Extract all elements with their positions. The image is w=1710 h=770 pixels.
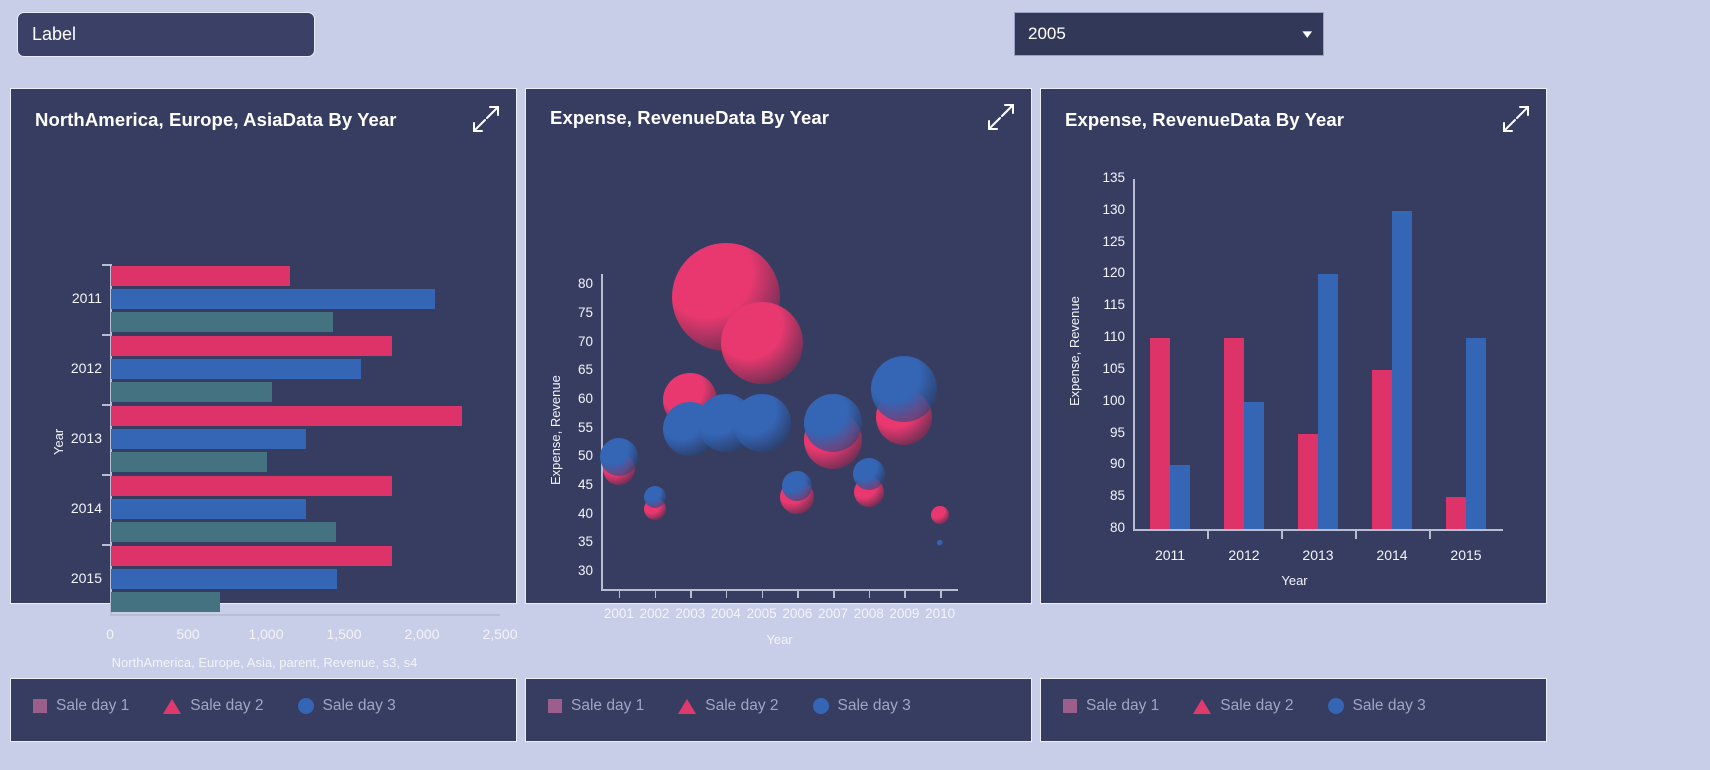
bubble-revenue-2005[interactable] [733,394,791,452]
circle-icon [1328,698,1344,714]
bar-asia-2011[interactable] [111,312,333,332]
triangle-icon [678,699,696,714]
x-axis-tick-label: 2,000 [382,626,462,642]
legend-item-label: Sale day 2 [705,697,778,715]
bar-europe-2012[interactable] [111,359,361,379]
legend-item-2[interactable]: Sale day 2 [163,697,263,715]
y-axis-tick-label: 2012 [55,360,102,376]
x-axis-tick [726,589,728,598]
legend-item-2[interactable]: Sale day 2 [678,697,778,715]
square-icon [1063,699,1077,713]
y-axis-tick-label: 30 [559,563,593,578]
x-axis-tick [1429,529,1431,539]
chart1-plot-area: 2011201220132014201505001,0001,5002,0002… [11,89,516,603]
y-axis-tick [102,264,110,266]
label-input-text: Label [32,24,76,45]
chevron-down-icon: ▾ [1303,26,1313,42]
bar-asia-2014[interactable] [111,522,336,542]
y-axis-tick-label: 2011 [55,290,102,306]
legend-panel-1: Sale day 1Sale day 2Sale day 3 [10,678,517,742]
x-axis-tick [869,589,871,598]
y-axis-tick-label: 35 [559,534,593,549]
x-axis-tick-label: 1,000 [226,626,306,642]
bar-expense-2012[interactable] [1224,338,1244,529]
bar-revenue-2014[interactable] [1392,211,1412,529]
chart-panel-column: Expense, RevenueData By Year 80859095100… [1040,88,1547,604]
bubble-expense-2005[interactable] [721,302,803,384]
x-axis-tick-label: 2011 [1133,547,1207,563]
x-axis-tick-label: 2010 [915,606,965,621]
x-axis-line [110,614,500,616]
y-axis-tick-label: 130 [1089,202,1125,217]
year-select-value: 2005 [1028,24,1066,44]
bar-europe-2011[interactable] [111,289,435,309]
x-axis-tick [1281,529,1283,539]
legend-item-label: Sale day 1 [1086,697,1159,715]
bubble-revenue-2001[interactable] [600,438,638,476]
y-axis-tick [102,334,110,336]
y-axis-tick-label: 75 [559,305,593,320]
x-axis-title: Year [526,632,1033,647]
x-axis-tick [1207,529,1209,539]
y-axis-tick-label: 110 [1089,329,1125,344]
bubble-revenue-2008[interactable] [853,458,885,490]
x-axis-tick-label: 0 [70,626,150,642]
y-axis-tick-label: 85 [1089,488,1125,503]
x-axis-tick [940,589,942,598]
bar-asia-2015[interactable] [111,592,220,612]
y-axis-line [1133,179,1135,529]
legend-item-label: Sale day 2 [1220,697,1293,715]
y-axis-tick-label: 70 [559,334,593,349]
y-axis-title: Expense, Revenue [1067,296,1082,406]
bar-northamerica-2014[interactable] [111,476,392,496]
square-icon [33,699,47,713]
legend-item-1[interactable]: Sale day 1 [1063,697,1159,715]
triangle-icon [163,699,181,714]
circle-icon [813,698,829,714]
year-select[interactable]: 2005 ▾ [1014,12,1324,56]
y-axis-tick-label: 105 [1089,361,1125,376]
legend-item-3[interactable]: Sale day 3 [1328,697,1426,715]
bar-revenue-2015[interactable] [1466,338,1486,529]
bar-northamerica-2011[interactable] [111,266,290,286]
legend: Sale day 1Sale day 2Sale day 3 [33,697,396,715]
y-axis-tick-label: 2015 [55,570,102,586]
x-axis-tick [797,589,799,598]
x-axis-tick [1355,529,1357,539]
bar-expense-2013[interactable] [1298,434,1318,529]
dashboard-page: Label 2005 ▾ NorthAmerica, Europe, AsiaD… [0,0,1710,770]
y-axis-tick-label: 90 [1089,456,1125,471]
bar-europe-2014[interactable] [111,499,306,519]
chart3-plot-area: 8085909510010511011512012513013520112012… [1041,89,1546,603]
legend-item-label: Sale day 1 [56,697,129,715]
y-axis-title: Expense, Revenue [548,375,563,485]
legend-item-label: Sale day 2 [190,697,263,715]
bar-expense-2011[interactable] [1150,338,1170,529]
legend-item-3[interactable]: Sale day 3 [298,697,396,715]
y-axis-tick-label: 80 [1089,520,1125,535]
legend: Sale day 1Sale day 2Sale day 3 [548,697,911,715]
y-axis-title: Year [51,429,66,455]
y-axis-tick-label: 45 [559,477,593,492]
y-axis-tick-label: 2014 [55,500,102,516]
bubble-revenue-2010[interactable] [937,540,943,546]
bar-northamerica-2015[interactable] [111,546,392,566]
square-icon [548,699,562,713]
x-axis-tick [619,589,621,598]
bar-asia-2012[interactable] [111,382,272,402]
chart2-plot-area: 3035404550556065707580200120022003200420… [526,89,1031,603]
triangle-icon [1193,699,1211,714]
x-axis-tick-label: 2015 [1429,547,1503,563]
bar-europe-2013[interactable] [111,429,306,449]
chart-panel-bubble: Expense, RevenueData By Year 30354045505… [525,88,1032,604]
y-axis-tick-label: 40 [559,506,593,521]
y-axis-tick-label: 80 [559,276,593,291]
x-axis-tick [655,589,657,598]
x-axis-tick-label: 2012 [1207,547,1281,563]
x-axis-tick [762,589,764,598]
y-axis-tick-label: 65 [559,362,593,377]
y-axis-tick-label: 55 [559,420,593,435]
bar-northamerica-2012[interactable] [111,336,392,356]
bubble-revenue-2009[interactable] [871,356,937,422]
legend-item-3[interactable]: Sale day 3 [813,697,911,715]
x-axis-title: NorthAmerica, Europe, Asia, parent, Reve… [11,655,518,670]
y-axis-tick-label: 125 [1089,234,1125,249]
y-axis-tick-label: 135 [1089,170,1125,185]
bubble-expense-2010[interactable] [931,506,949,524]
bar-expense-2015[interactable] [1446,497,1466,529]
y-axis-tick [102,544,110,546]
y-axis-tick-label: 115 [1089,297,1125,312]
x-axis-tick-label: 2014 [1355,547,1429,563]
y-axis-tick [102,474,110,476]
legend-item-label: Sale day 3 [838,697,911,715]
bar-revenue-2012[interactable] [1244,402,1264,529]
x-axis-tick [904,589,906,598]
legend-item-1[interactable]: Sale day 1 [33,697,129,715]
x-axis-tick-label: 2013 [1281,547,1355,563]
x-axis-tick-label: 1,500 [304,626,384,642]
top-toolbar: Label 2005 ▾ [0,0,1710,72]
chart-panel-bar-horizontal: NorthAmerica, Europe, AsiaData By Year 2… [10,88,517,604]
y-axis-tick-label: 95 [1089,425,1125,440]
x-axis-tick-label: 500 [148,626,228,642]
legend-item-2[interactable]: Sale day 2 [1193,697,1293,715]
bar-revenue-2011[interactable] [1170,465,1190,529]
y-axis-tick-label: 100 [1089,393,1125,408]
legend-item-1[interactable]: Sale day 1 [548,697,644,715]
legend-panel-3: Sale day 1Sale day 2Sale day 3 [1040,678,1547,742]
y-axis-line [601,274,603,589]
legend-item-label: Sale day 3 [1353,697,1426,715]
label-input[interactable]: Label [17,12,315,57]
bar-europe-2015[interactable] [111,569,337,589]
legend: Sale day 1Sale day 2Sale day 3 [1063,697,1426,715]
circle-icon [298,698,314,714]
x-axis-line [1133,529,1503,531]
y-axis-tick [102,404,110,406]
y-axis-tick-label: 50 [559,448,593,463]
bar-revenue-2013[interactable] [1318,274,1338,529]
x-axis-tick [690,589,692,598]
legend-panel-2: Sale day 1Sale day 2Sale day 3 [525,678,1032,742]
legend-item-label: Sale day 1 [571,697,644,715]
legend-item-label: Sale day 3 [323,697,396,715]
bar-asia-2013[interactable] [111,452,267,472]
x-axis-title: Year [1041,573,1548,588]
y-axis-tick-label: 60 [559,391,593,406]
bubble-revenue-2002[interactable] [644,486,666,508]
x-axis-tick [833,589,835,598]
y-axis-tick-label: 120 [1089,265,1125,280]
bar-northamerica-2013[interactable] [111,406,462,426]
bubble-revenue-2007[interactable] [804,394,862,452]
bar-expense-2014[interactable] [1372,370,1392,529]
